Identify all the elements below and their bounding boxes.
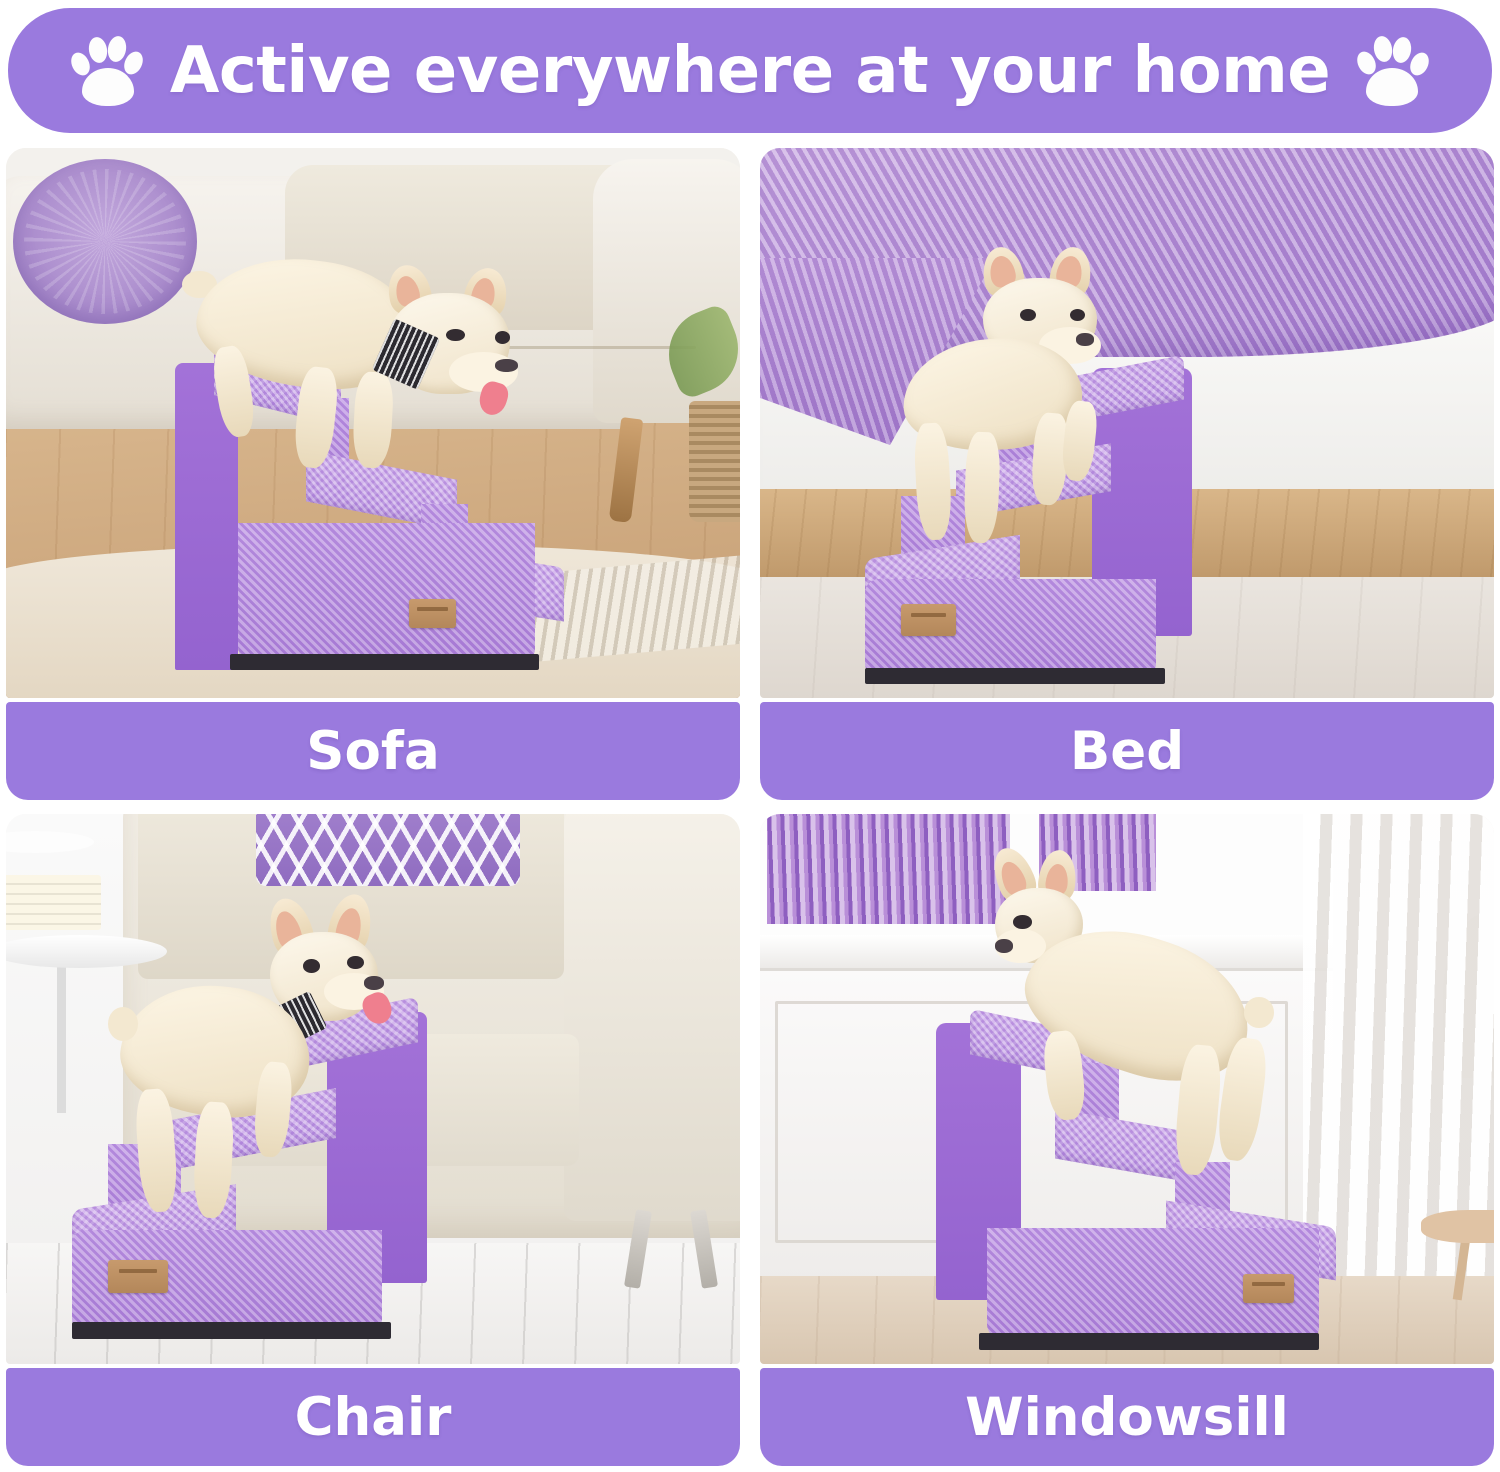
brand-tag bbox=[409, 599, 457, 628]
wooden-stool bbox=[1421, 1210, 1494, 1243]
panel-sofa: Sofa bbox=[6, 148, 740, 800]
paw-print-icon-left bbox=[70, 32, 144, 110]
caption-label: Bed bbox=[1070, 721, 1184, 782]
caption-bed: Bed bbox=[760, 702, 1494, 800]
caption-label: Windowsill bbox=[965, 1387, 1289, 1448]
stacked-books bbox=[6, 875, 101, 930]
brand-tag bbox=[901, 604, 956, 636]
feature-panel-grid: Sofa bbox=[6, 148, 1494, 1466]
panel-windowsill: Windowsill bbox=[760, 814, 1494, 1466]
round-velvet-pillow bbox=[13, 159, 197, 324]
dog-french-bulldog bbox=[94, 891, 432, 1232]
brand-tag bbox=[1243, 1274, 1294, 1304]
panel-bed: Bed bbox=[760, 148, 1494, 800]
photo-windowsill bbox=[760, 814, 1494, 1364]
header-banner: Active everywhere at your home bbox=[8, 8, 1492, 133]
caption-chair: Chair bbox=[6, 1368, 740, 1466]
side-table-leg bbox=[57, 963, 66, 1113]
armchair-armrest bbox=[564, 814, 740, 1221]
photo-sofa bbox=[6, 148, 740, 698]
panel-chair: Chair bbox=[6, 814, 740, 1466]
dog-french-bulldog bbox=[951, 847, 1318, 1188]
page-title: Active everywhere at your home bbox=[170, 34, 1330, 108]
caption-label: Sofa bbox=[306, 721, 439, 782]
caption-label: Chair bbox=[295, 1387, 452, 1448]
dog-french-bulldog bbox=[885, 247, 1193, 555]
photo-chair bbox=[6, 814, 740, 1364]
geometric-pillow bbox=[256, 814, 520, 886]
caption-sofa: Sofa bbox=[6, 702, 740, 800]
paw-print-icon-right bbox=[1356, 32, 1430, 110]
dog-french-bulldog bbox=[182, 225, 564, 478]
caption-windowsill: Windowsill bbox=[760, 1368, 1494, 1466]
brand-tag bbox=[108, 1260, 167, 1293]
photo-bed bbox=[760, 148, 1494, 698]
woven-basket bbox=[689, 401, 740, 522]
